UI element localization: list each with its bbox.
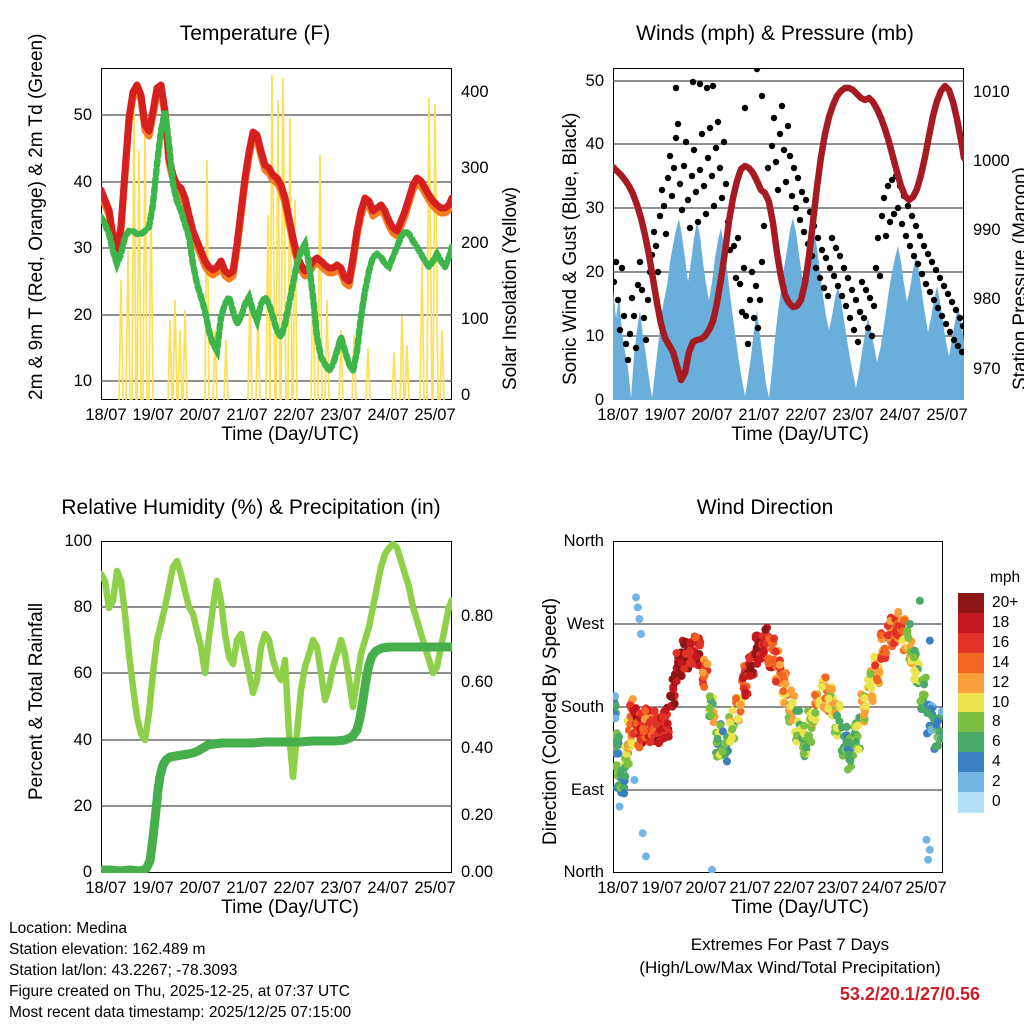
panel-temperature-xtick: 22/07 (271, 406, 317, 425)
panel-wind-direction-ytick: East (530, 781, 604, 800)
colorbar-label: 20+ (992, 594, 1018, 612)
panel-wind-direction-ytick: West (530, 615, 604, 634)
colorbar-label: 12 (992, 674, 1009, 692)
panel-temperature-ytick: 50 (46, 106, 92, 125)
panel-humidity-xtick: 19/07 (130, 879, 176, 898)
panel-wind-direction-frame (613, 541, 943, 873)
panel-temperature-xtick: 21/07 (224, 406, 270, 425)
panel-wind-direction-xtick: 19/07 (639, 879, 685, 898)
panel-winds-ytick-right: 1010 (973, 83, 1010, 102)
panel-winds-ytick-right: 1000 (973, 152, 1010, 171)
colorbar-label: 6 (992, 733, 1001, 751)
colorbar-swatch (958, 653, 984, 674)
panel-temperature-ytick-right: 200 (461, 234, 489, 253)
panel-humidity-xtick: 25/07 (412, 879, 458, 898)
colorbar-header-mph: mph (990, 569, 1020, 587)
colorbar-swatch (958, 693, 984, 714)
colorbar-label: 18 (992, 614, 1009, 632)
panel-winds-title: Winds (mph) & Pressure (mb) (580, 22, 970, 46)
colorbar-swatch (958, 673, 984, 694)
panel-humidity-xtick: 23/07 (318, 879, 364, 898)
extremes-values: 53.2/20.1/27/0.56 (600, 984, 980, 1005)
panel-temperature-ytick: 30 (46, 239, 92, 258)
panel-winds-xlabel: Time (Day/UTC) (640, 424, 960, 446)
panel-temperature-xtick: 25/07 (412, 406, 458, 425)
panel-temperature-ytick-right: 0 (461, 386, 470, 405)
panel-wind-direction-ytick: North (530, 863, 604, 882)
panel-humidity-ytick-right: 0.00 (461, 863, 493, 882)
panel-winds-ytick-right: 980 (973, 290, 1001, 309)
panel-wind-direction-xlabel: Time (Day/UTC) (640, 897, 960, 919)
panel-winds-xtick: 23/07 (830, 406, 876, 425)
panel-winds-xtick: 21/07 (736, 406, 782, 425)
panel-humidity-ytick: 20 (40, 797, 92, 816)
colorbar-label: 16 (992, 634, 1009, 652)
panel-temperature-ytick-right: 400 (461, 83, 489, 102)
panel-temperature-ytick: 10 (46, 372, 92, 391)
colorbar-swatch (958, 633, 984, 654)
colorbar-swatch (958, 792, 984, 813)
panel-winds-xtick: 18/07 (595, 406, 641, 425)
panel-winds-ytick-right: 990 (973, 221, 1001, 240)
panel-humidity-xtick: 21/07 (224, 879, 270, 898)
panel-winds-ytick-right: 970 (973, 360, 1001, 379)
panel-wind-direction-xtick: 22/07 (771, 879, 817, 898)
panel-humidity-xtick: 24/07 (365, 879, 411, 898)
panel-temperature-ylabel-left: 2m & 9m T (Red, Orange) & 2m Td (Green) (26, 34, 48, 400)
panel-humidity-ytick-right: 0.60 (461, 673, 493, 692)
colorbar-swatch (958, 772, 984, 793)
panel-humidity-xtick: 18/07 (83, 879, 129, 898)
panel-wind-direction-ytick: South (530, 698, 604, 717)
panel-temperature-ytick: 20 (46, 306, 92, 325)
panel-wind-direction-xtick: 23/07 (815, 879, 861, 898)
colorbar-swatch (958, 732, 984, 753)
panel-temperature-xtick: 18/07 (83, 406, 129, 425)
panel-humidity-ytick-right: 0.40 (461, 739, 493, 758)
extremes-title: Extremes For Past 7 Days (620, 935, 960, 955)
colorbar-label: 10 (992, 694, 1009, 712)
panel-temperature-xlabel: Time (Day/UTC) (130, 424, 450, 446)
panel-winds-ytick: 40 (558, 135, 604, 154)
colorbar-label: 2 (992, 773, 1001, 791)
panel-wind-direction-xtick: 24/07 (859, 879, 905, 898)
footer-recent-timestamp: Most recent data timestamp: 2025/12/25 0… (9, 1004, 351, 1022)
panel-temperature-frame (101, 68, 452, 400)
panel-humidity-ylabel-left: Percent & Total Rainfall (26, 603, 48, 800)
panel-temperature-ylabel-right: Solar Insolation (Yellow) (500, 187, 522, 390)
colorbar-swatch (958, 752, 984, 773)
panel-humidity-ytick: 40 (40, 731, 92, 750)
panel-wind-direction-ytick: North (530, 532, 604, 551)
panel-humidity-ytick-right: 0.80 (461, 607, 493, 626)
colorbar-label: 8 (992, 713, 1001, 731)
colorbar-swatch (958, 712, 984, 733)
footer-latlon: Station lat/lon: 43.2267; -78.3093 (9, 962, 237, 980)
panel-humidity-ytick: 80 (40, 598, 92, 617)
panel-winds-ytick: 20 (558, 263, 604, 282)
panel-temperature-xtick: 24/07 (365, 406, 411, 425)
panel-humidity-ytick-right: 0.20 (461, 806, 493, 825)
panel-humidity-title: Relative Humidity (%) & Precipitation (i… (16, 496, 486, 520)
panel-winds-xtick: 24/07 (877, 406, 923, 425)
panel-winds-ylabel-right: Station Pressure (Maroon) (1010, 167, 1024, 390)
panel-winds-ytick: 10 (558, 327, 604, 346)
panel-winds-ytick: 30 (558, 199, 604, 218)
panel-humidity-ytick: 60 (40, 664, 92, 683)
panel-wind-direction-xtick: 25/07 (903, 879, 949, 898)
colorbar-label: 4 (992, 753, 1001, 771)
extremes-subtitle: (High/Low/Max Wind/Total Precipitation) (600, 958, 980, 978)
panel-wind-direction-ylabel: Direction (Colored By Speed) (540, 598, 562, 845)
panel-humidity-ytick: 100 (40, 532, 92, 551)
panel-wind-direction-title: Wind Direction (600, 496, 930, 520)
panel-temperature-title: Temperature (F) (60, 22, 450, 46)
footer-created: Figure created on Thu, 2025-12-25, at 07… (9, 983, 350, 1001)
colorbar-label: 0 (992, 793, 1001, 811)
panel-winds-ytick: 50 (558, 72, 604, 91)
panel-wind-direction-xtick: 20/07 (683, 879, 729, 898)
panel-temperature-xtick: 19/07 (130, 406, 176, 425)
panel-winds-frame (613, 68, 964, 400)
panel-winds-xtick: 22/07 (783, 406, 829, 425)
footer-elevation: Station elevation: 162.489 m (9, 941, 205, 959)
colorbar-label: 14 (992, 654, 1009, 672)
footer-location: Location: Medina (9, 920, 127, 938)
panel-winds-xtick: 25/07 (924, 406, 970, 425)
panel-winds-xtick: 20/07 (689, 406, 735, 425)
panel-humidity-xtick: 22/07 (271, 879, 317, 898)
panel-temperature-ytick: 40 (46, 173, 92, 192)
colorbar-swatch (958, 613, 984, 634)
weather-dashboard: Temperature (F) 2m & 9m T (Red, Orange) … (0, 0, 1024, 1024)
panel-wind-direction-xtick: 21/07 (727, 879, 773, 898)
panel-temperature-xtick: 23/07 (318, 406, 364, 425)
wind-speed-colorbar: mph 20+181614121086420 (958, 593, 984, 812)
colorbar-swatch (958, 593, 984, 614)
panel-humidity-xlabel: Time (Day/UTC) (130, 897, 450, 919)
panel-humidity-frame (101, 541, 452, 873)
panel-winds-xtick: 19/07 (642, 406, 688, 425)
panel-temperature-xtick: 20/07 (177, 406, 223, 425)
panel-temperature-ytick-right: 100 (461, 310, 489, 329)
panel-humidity-xtick: 20/07 (177, 879, 223, 898)
panel-temperature-ytick-right: 300 (461, 159, 489, 178)
panel-wind-direction-xtick: 18/07 (595, 879, 641, 898)
